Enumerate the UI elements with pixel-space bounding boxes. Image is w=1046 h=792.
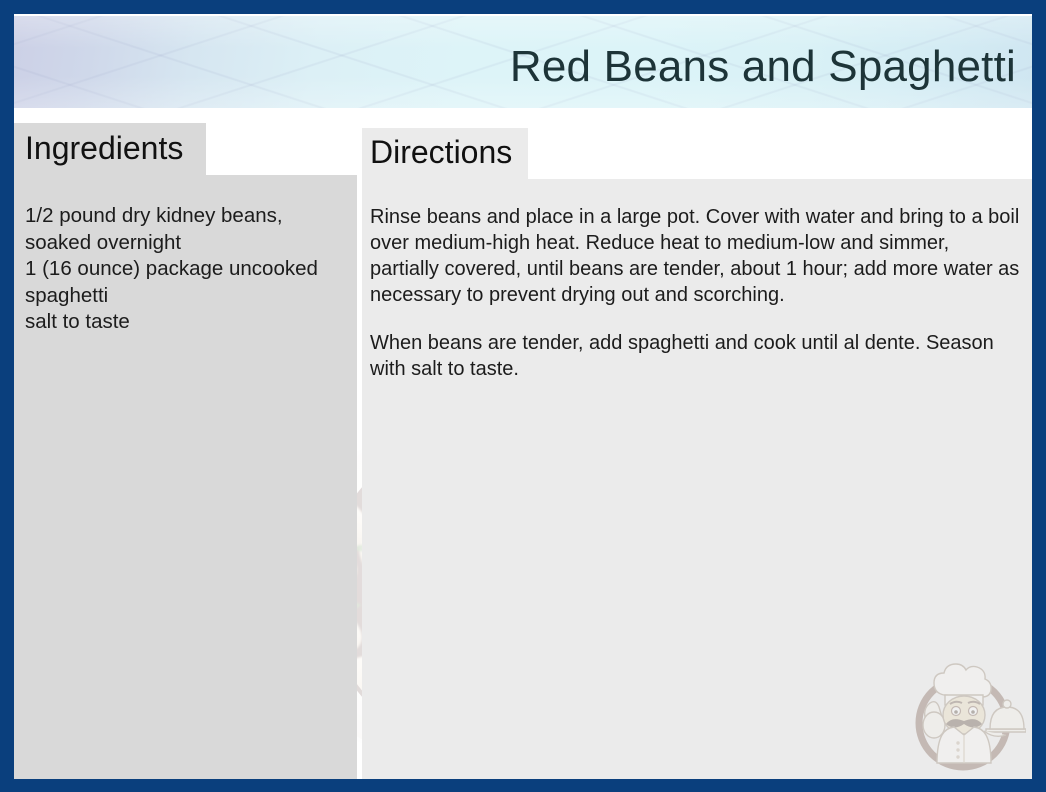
directions-text: Rinse beans and place in a large pot. Co… (370, 204, 1020, 382)
ingredients-heading: Ingredients (25, 127, 183, 169)
directions-heading-tab: Directions (362, 128, 528, 179)
ingredients-heading-tab: Ingredients (14, 123, 206, 175)
page-title: Red Beans and Spaghetti (510, 42, 1016, 92)
recipe-slide: Red Beans and Spaghetti (0, 0, 1046, 792)
directions-paragraph-1: Rinse beans and place in a large pot. Co… (370, 204, 1020, 308)
directions-heading: Directions (370, 131, 512, 173)
ingredients-list: 1/2 pound dry kidney beans, soaked overn… (25, 203, 351, 336)
directions-paragraph-2: When beans are tender, add spaghetti and… (370, 330, 1020, 382)
ingredients-panel: 1/2 pound dry kidney beans, soaked overn… (14, 175, 357, 779)
slide-page: Red Beans and Spaghetti (14, 14, 1032, 779)
directions-panel: Rinse beans and place in a large pot. Co… (362, 179, 1032, 779)
title-banner: Red Beans and Spaghetti (14, 16, 1032, 108)
